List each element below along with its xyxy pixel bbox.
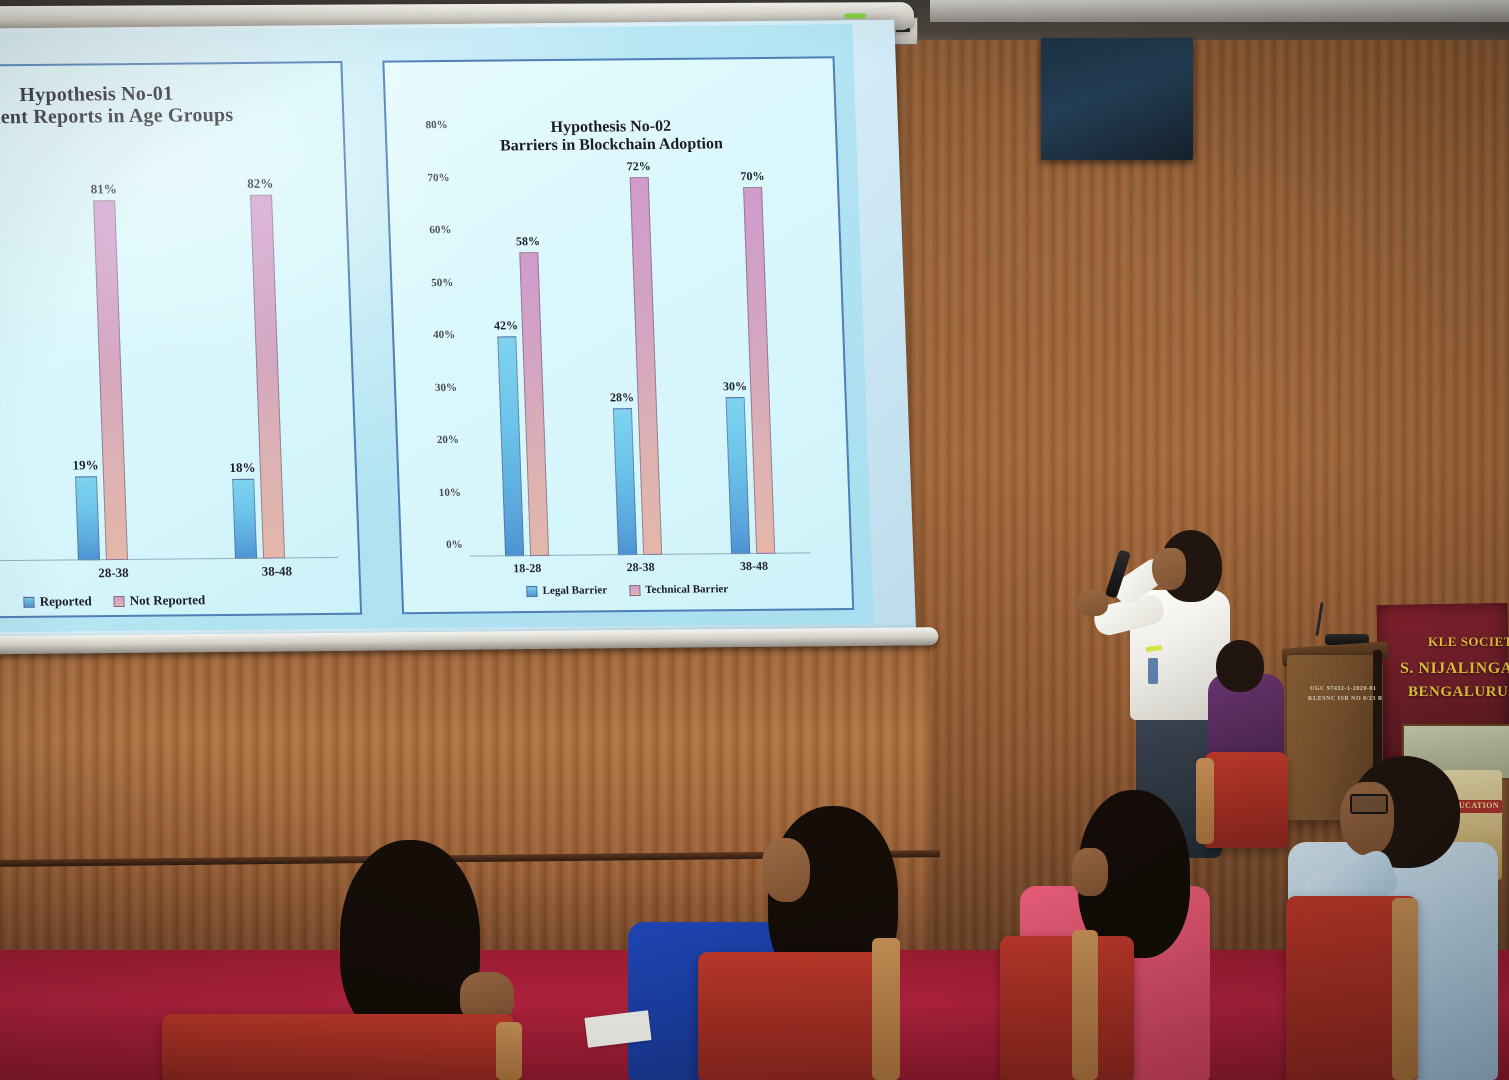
bar-value-label: 42% [494, 318, 519, 333]
legend-swatch-icon [24, 596, 35, 607]
plot-area-hypothesis-01: 37% 19% 81% [0, 158, 338, 562]
x-tick-label: 28-38 [585, 559, 696, 575]
chart-legend-hypothesis-02: Legal Barrier Technical Barrier [403, 582, 852, 598]
bar-group: 18% 82% [170, 158, 334, 559]
chair [162, 1014, 514, 1080]
bar-value-label: 82% [247, 175, 274, 191]
y-tick-label: 70% [427, 171, 449, 183]
bar-reported: 19% [75, 476, 100, 561]
x-tick-label: 38-48 [699, 558, 810, 574]
bar-value-label: 58% [516, 234, 541, 249]
legend-label: Not Reported [129, 592, 205, 609]
attendee-woman-pink-neck [1072, 848, 1108, 896]
x-tick-label: 38-48 [202, 563, 353, 580]
banner-line-1: KLE SOCIETY [1428, 634, 1509, 650]
presenter-hand [1078, 590, 1108, 616]
wall-speaker [1041, 38, 1193, 160]
bar-value-label: 70% [740, 168, 765, 183]
auditorium-presentation-photo: Hypothesis No-01 udulent Reports in Age … [0, 0, 1509, 1080]
y-tick-label: 60% [429, 224, 451, 236]
projected-slide: Hypothesis No-01 udulent Reports in Age … [0, 24, 874, 633]
bar-value-label: 72% [626, 159, 651, 174]
bar-value-label: 19% [72, 457, 99, 473]
chair [1000, 936, 1134, 1080]
attendee-woman-foreground-hair [340, 840, 480, 1040]
chart-title-line1: Hypothesis No-02 [550, 118, 671, 136]
y-tick-label: 20% [437, 434, 459, 446]
attendee-woman-blue-face [762, 838, 810, 902]
bar-groups-hypothesis-02: 42% 58% 28% 72% [455, 134, 810, 557]
chart-panel-hypothesis-02: Hypothesis No-02 Barriers in Blockchain … [382, 56, 854, 614]
legend-item-reported: Reported [23, 593, 92, 610]
presenter-id-badge [1148, 658, 1158, 684]
legend-label: Legal Barrier [542, 584, 607, 597]
chair-armrest [496, 1022, 522, 1080]
chart-panel-hypothesis-01: Hypothesis No-01 udulent Reports in Age … [0, 61, 362, 619]
chart-legend-hypothesis-01: Reported Not Reported [0, 591, 360, 612]
bar-legal-barrier: 42% [497, 336, 524, 557]
y-tick-label: 40% [433, 329, 455, 341]
chart-title-hypothesis-01: Hypothesis No-01 udulent Reports in Age … [0, 81, 343, 130]
bar-groups-hypothesis-01: 37% 19% 81% [0, 158, 338, 562]
chair-armrest [1392, 898, 1418, 1080]
eyeglasses [1350, 794, 1388, 814]
ceiling-strip [930, 0, 1509, 22]
projection-screen: Hypothesis No-01 udulent Reports in Age … [0, 0, 933, 684]
bar-not-reported: 81% [93, 200, 128, 560]
attendee-purple [1200, 640, 1290, 770]
screen-status-led [844, 13, 866, 18]
podium-label-line1: UGC 97432-1-2020-01 [1310, 686, 1509, 692]
chair-armrest [1072, 930, 1098, 1080]
podium-label-line2: KLESNC ISR NO 8/23 B [1308, 696, 1509, 702]
chart-title-line2: udulent Reports in Age Groups [0, 103, 343, 130]
chair [698, 952, 884, 1080]
plot-area-hypothesis-02: 0% 10% 20% 30% 40% 50% 60% 70% 80% 42% [455, 134, 810, 557]
bar-group: 42% 58% [457, 136, 582, 557]
y-tick-label: 10% [439, 486, 461, 498]
x-tick-label: 28-38 [38, 564, 189, 581]
bar-value-label: 18% [229, 460, 256, 476]
presenter-face [1152, 548, 1186, 590]
x-tick-labels-hypothesis-01: -28 28-38 38-48 [0, 563, 359, 584]
bar-legal-barrier: 30% [726, 397, 751, 555]
banner-line-2: S. NIJALINGAPPA [1400, 660, 1509, 678]
bar-group: 28% 72% [570, 135, 695, 556]
y-tick-label: 80% [425, 119, 447, 131]
chart-title-line1: Hypothesis No-01 [19, 83, 174, 106]
bar-reported: 18% [232, 479, 257, 559]
legend-label: Reported [39, 593, 92, 609]
bar-value-label: 30% [723, 379, 748, 394]
chair-armrest [872, 938, 900, 1080]
attendee-purple-head [1216, 640, 1264, 692]
x-tick-labels-hypothesis-02: 18-28 28-38 38-48 [470, 558, 811, 576]
legend-swatch-icon [114, 595, 125, 606]
bar-value-label: 81% [90, 181, 117, 197]
legend-item-legal-barrier: Legal Barrier [526, 584, 607, 597]
bar-legal-barrier: 28% [613, 408, 637, 555]
x-tick-label: 18-28 [472, 561, 583, 577]
bar-value-label: 28% [610, 390, 635, 405]
bar-group: 30% 70% [683, 134, 808, 555]
legend-swatch-icon [526, 585, 537, 596]
legend-item-not-reported: Not Reported [113, 592, 205, 609]
bar-technical-barrier: 58% [519, 252, 549, 556]
y-tick-label: 30% [435, 381, 457, 393]
legend-label: Technical Barrier [645, 583, 728, 596]
bar-not-reported: 82% [250, 194, 285, 558]
y-tick-label: 50% [431, 276, 453, 288]
legend-swatch-icon [629, 585, 640, 596]
x-tick-label: -28 [0, 566, 25, 583]
bar-group: 19% 81% [14, 160, 178, 561]
y-tick-label: 0% [446, 539, 463, 551]
legend-item-technical-barrier: Technical Barrier [629, 583, 728, 596]
